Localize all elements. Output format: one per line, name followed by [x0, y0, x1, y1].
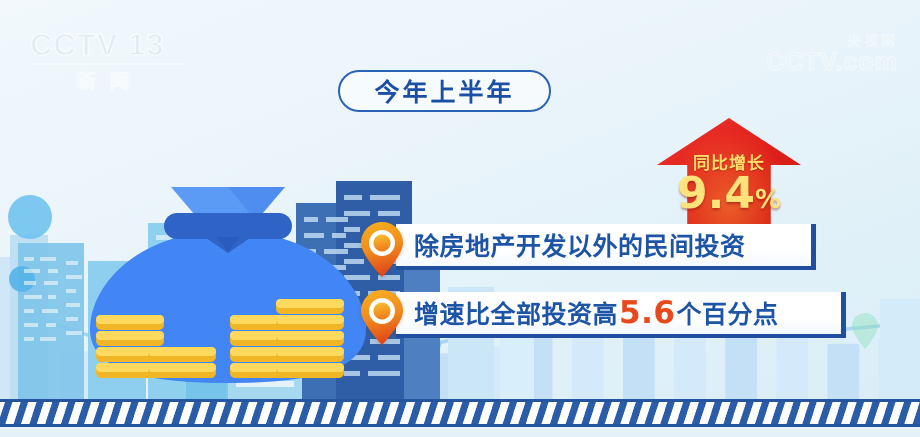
map-pin-icon	[361, 290, 403, 345]
cctv-logo-line2: 新闻	[30, 67, 190, 94]
cctv-com-watermark: 央视网 CCTV.com	[766, 34, 898, 75]
growth-arrow-badge: 同比增长 9.4%	[657, 118, 801, 230]
cctv-logo-rule	[32, 63, 182, 65]
cctv-channel-logo: CCTV 13 新闻	[30, 28, 190, 90]
watermark-en-text: CCTV.com	[766, 50, 898, 75]
map-pin-icon	[361, 222, 403, 277]
info-bar-2-suffix: 个百分点	[676, 300, 778, 329]
bottom-edge	[0, 427, 920, 437]
money-bag-illustration	[78, 169, 378, 399]
growth-value: 9.4%	[657, 170, 801, 224]
coin-stack-4	[276, 299, 344, 378]
info-bar-private-investment: 除房地产开发以外的民间投资	[396, 224, 816, 270]
map-pin-ghost-icon	[852, 313, 878, 349]
page-title: 今年上半年	[338, 70, 551, 112]
info-bar-growth-gap: 增速比全部投资高5.6个百分点	[396, 292, 846, 338]
cctv-logo-line1: CCTV 13	[30, 28, 190, 62]
growth-unit: %	[755, 185, 781, 215]
info-bar-1-text: 除房地产开发以外的民间投资	[396, 227, 746, 263]
info-bar-2-highlight: 5.6	[618, 295, 676, 331]
growth-number: 9.4	[677, 168, 755, 219]
infographic-canvas: CCTV 13 新闻 央视网 CCTV.com 今年上半年 同比增长 9.4%	[0, 0, 920, 437]
watermark-cn-text: 央视网	[766, 34, 898, 48]
bottom-stripe-band	[0, 399, 920, 427]
info-bar-2-text: 增速比全部投资高5.6个百分点	[396, 295, 778, 331]
page-title-text: 今年上半年	[374, 73, 514, 109]
info-bar-2-prefix: 增速比全部投资高	[414, 300, 618, 329]
